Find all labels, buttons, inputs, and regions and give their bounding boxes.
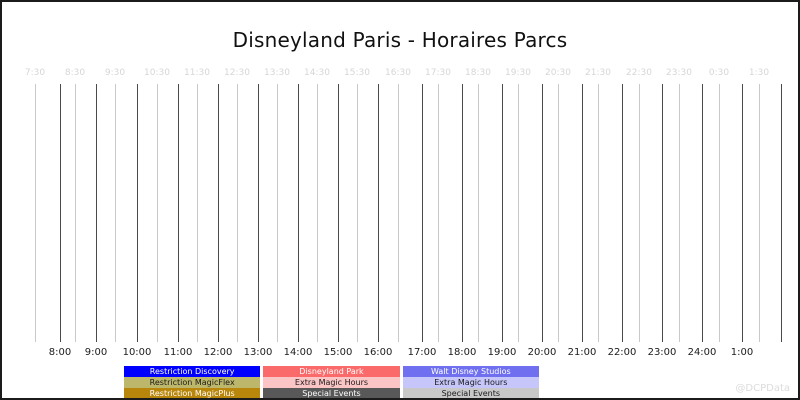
legend-column-walt-disney-studios: Walt Disney StudiosExtra Magic HoursSpec… <box>403 366 539 399</box>
gridline-major <box>582 84 583 342</box>
gridline-minor <box>317 84 318 342</box>
gridline-minor <box>35 84 36 342</box>
top-tick-label: 16:30 <box>385 68 411 78</box>
top-tick-label: 18:30 <box>465 68 491 78</box>
legend-item[interactable]: Disneyland Park <box>263 366 399 377</box>
bottom-tick-label: 9:00 <box>85 347 107 358</box>
gridline-minor <box>639 84 640 342</box>
bottom-tick-label: 20:00 <box>528 347 557 358</box>
bottom-tick-label: 1:00 <box>731 347 753 358</box>
top-tick-label: 11:30 <box>184 68 210 78</box>
top-tick-label: 0:30 <box>709 68 729 78</box>
top-tick-label: 19:30 <box>505 68 531 78</box>
top-tick-label: 9:30 <box>105 68 125 78</box>
gridline-minor <box>719 84 720 342</box>
gridline-major <box>542 84 543 342</box>
gridline-major <box>298 84 299 342</box>
gridline-minor <box>518 84 519 342</box>
legend-column-disneyland-park: Disneyland ParkExtra Magic HoursSpecial … <box>263 366 399 399</box>
legend-item[interactable]: Extra Magic Hours <box>403 377 539 388</box>
gridline-major <box>96 84 97 342</box>
bottom-tick-label: 24:00 <box>688 347 717 358</box>
gridline-minor <box>237 84 238 342</box>
bottom-tick-label: 16:00 <box>364 347 393 358</box>
bottom-tick-label: 8:00 <box>49 347 71 358</box>
gridline-minor <box>478 84 479 342</box>
legend-item[interactable]: Restriction MagicPlus <box>124 388 260 399</box>
top-tick-label: 15:30 <box>344 68 370 78</box>
gridline-major <box>422 84 423 342</box>
gridline-minor <box>197 84 198 342</box>
bottom-tick-label: 10:00 <box>123 347 152 358</box>
gridline-major <box>60 84 61 342</box>
bottom-tick-label: 22:00 <box>608 347 637 358</box>
bottom-tick-label: 13:00 <box>244 347 273 358</box>
legend-item[interactable]: Special Events <box>403 388 539 399</box>
top-tick-label: 1:30 <box>749 68 769 78</box>
bottom-tick-label: 17:00 <box>408 347 437 358</box>
top-tick-label: 13:30 <box>264 68 290 78</box>
gridline-major <box>462 84 463 342</box>
gridline-major <box>502 84 503 342</box>
top-tick-label: 17:30 <box>425 68 451 78</box>
gridline-minor <box>759 84 760 342</box>
bottom-tick-label: 23:00 <box>648 347 677 358</box>
gridline-minor <box>398 84 399 342</box>
chart-container: Disneyland Paris - Horaires Parcs Restri… <box>0 0 800 400</box>
bottom-tick-label: 11:00 <box>164 347 193 358</box>
gridline-major <box>702 84 703 342</box>
top-tick-label: 10:30 <box>144 68 170 78</box>
gridline-minor <box>438 84 439 342</box>
bottom-tick-label: 12:00 <box>204 347 233 358</box>
gridline-minor <box>75 84 76 342</box>
bottom-tick-label: 19:00 <box>488 347 517 358</box>
gridline-minor <box>115 84 116 342</box>
gridline-major <box>218 84 219 342</box>
bottom-tick-label: 18:00 <box>448 347 477 358</box>
legend-item[interactable]: Special Events <box>263 388 399 399</box>
legend-item[interactable]: Restriction Discovery <box>124 366 260 377</box>
page-title: Disneyland Paris - Horaires Parcs <box>2 28 798 52</box>
legend-column-restrictions: Restriction DiscoveryRestriction MagicFl… <box>124 366 260 399</box>
gridline-major <box>137 84 138 342</box>
top-tick-label: 8:30 <box>65 68 85 78</box>
bottom-tick-label: 15:00 <box>324 347 353 358</box>
gridline-major <box>258 84 259 342</box>
legend: Restriction DiscoveryRestriction MagicFl… <box>124 366 539 399</box>
gridline-major <box>781 84 782 342</box>
gridline-major <box>338 84 339 342</box>
watermark: @DCPData <box>735 383 790 394</box>
gridline-major <box>178 84 179 342</box>
legend-item[interactable]: Extra Magic Hours <box>263 377 399 388</box>
gridline-minor <box>277 84 278 342</box>
top-tick-label: 7:30 <box>25 68 45 78</box>
gridline-major <box>662 84 663 342</box>
gridline-major <box>742 84 743 342</box>
bottom-tick-label: 14:00 <box>284 347 313 358</box>
gridline-minor <box>558 84 559 342</box>
top-tick-label: 21:30 <box>585 68 611 78</box>
legend-item[interactable]: Walt Disney Studios <box>403 366 539 377</box>
top-tick-label: 23:30 <box>666 68 692 78</box>
top-tick-label: 20:30 <box>545 68 571 78</box>
plot-area <box>2 84 800 342</box>
top-tick-label: 22:30 <box>626 68 652 78</box>
legend-item[interactable]: Restriction MagicFlex <box>124 377 260 388</box>
gridline-major <box>622 84 623 342</box>
gridline-minor <box>157 84 158 342</box>
gridline-minor <box>598 84 599 342</box>
bottom-tick-label: 21:00 <box>568 347 597 358</box>
gridline-major <box>378 84 379 342</box>
top-tick-label: 14:30 <box>304 68 330 78</box>
gridline-minor <box>357 84 358 342</box>
gridline-minor <box>679 84 680 342</box>
top-tick-label: 12:30 <box>224 68 250 78</box>
